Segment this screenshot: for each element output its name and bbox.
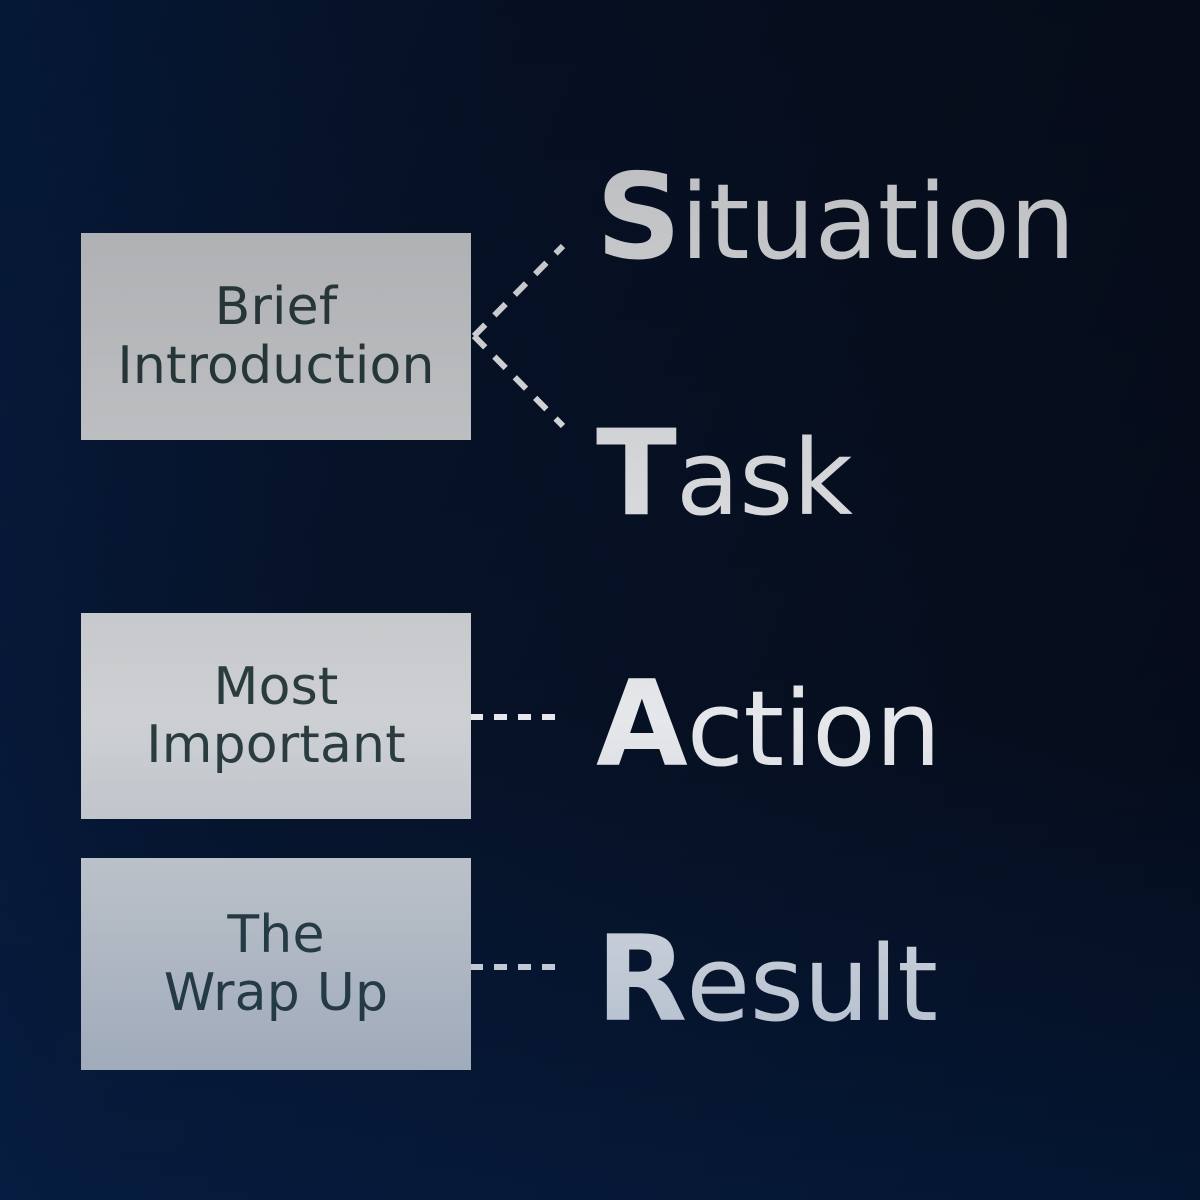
star-word-task-rest: ask bbox=[676, 417, 853, 539]
node-box-the-wrap-up[interactable]: The Wrap Up bbox=[81, 858, 471, 1070]
node-box-the-wrap-up-label: The Wrap Up bbox=[158, 906, 394, 1022]
node-box-brief-introduction-label: Brief Introduction bbox=[111, 278, 440, 394]
star-word-situation-rest: ituation bbox=[680, 161, 1075, 283]
star-initial-s: S bbox=[596, 148, 680, 286]
star-word-result: Result bbox=[596, 910, 938, 1048]
star-method-diagram: Brief Introduction Most Important The Wr… bbox=[0, 0, 1200, 1200]
star-word-situation: Situation bbox=[596, 148, 1075, 286]
star-word-task: Task bbox=[596, 404, 853, 542]
node-box-most-important-label: Most Important bbox=[140, 658, 412, 774]
star-initial-a: A bbox=[596, 655, 687, 793]
star-initial-t: T bbox=[596, 404, 676, 542]
star-word-action: Action bbox=[596, 655, 941, 793]
star-word-action-rest: ction bbox=[687, 668, 941, 790]
connector-brief-to-task bbox=[474, 336, 563, 426]
connector-brief-to-situation bbox=[474, 246, 563, 336]
star-word-result-rest: esult bbox=[686, 923, 937, 1045]
node-box-most-important[interactable]: Most Important bbox=[81, 613, 471, 819]
node-box-brief-introduction[interactable]: Brief Introduction bbox=[81, 233, 471, 440]
star-initial-r: R bbox=[596, 910, 686, 1048]
